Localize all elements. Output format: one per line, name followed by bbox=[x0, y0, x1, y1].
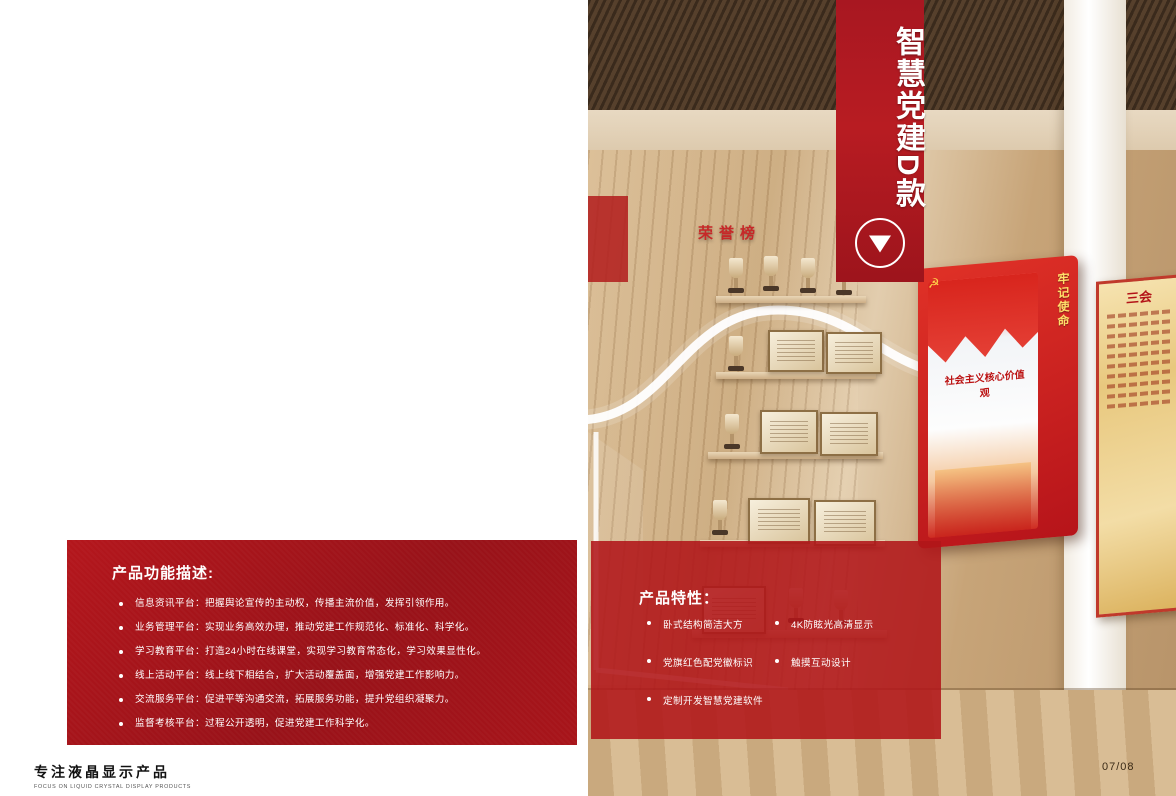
list-item: 触摸互动设计 bbox=[771, 655, 931, 669]
list-item: 学习教育平台：打造24小时在线课堂，实现学习教育常态化，学习效果显性化。 bbox=[113, 640, 559, 664]
award-plaque bbox=[760, 410, 818, 454]
list-item: 卧式结构简洁大方 bbox=[643, 617, 771, 631]
list-item: 定制开发智慧党建软件 bbox=[643, 693, 771, 707]
trophy bbox=[712, 500, 728, 535]
trophy bbox=[800, 258, 816, 293]
footer-brand-cn: 专注液晶显示产品 bbox=[34, 762, 191, 782]
list-item: 交流服务平台：促进平等沟通交流，拓展服务功能，提升党组织凝聚力。 bbox=[113, 688, 559, 712]
board-text-line bbox=[1107, 339, 1171, 349]
board-text-line bbox=[1107, 309, 1171, 319]
display-screen: 社会主义核心价值观 bbox=[928, 273, 1038, 539]
award-plaque bbox=[820, 412, 878, 456]
feature-list: 卧式结构简洁大方 4K防眩光高清显示 党旗红色配党徽标识 触摸互动设计 定制开发… bbox=[643, 617, 931, 707]
list-item bbox=[771, 693, 931, 707]
board-text-line bbox=[1107, 369, 1171, 379]
function-list: 信息资讯平台：把握舆论宣传的主动权，传播主流价值，发挥引领作用。 业务管理平台：… bbox=[113, 592, 559, 736]
page-number: 07/08 bbox=[1102, 761, 1135, 773]
display-side-text: 牢记使命 bbox=[1044, 272, 1070, 330]
board-text-line bbox=[1107, 389, 1171, 399]
feature-panel-title: 产品特性： bbox=[639, 587, 719, 608]
poster-title: 社会主义核心价值观 bbox=[944, 366, 1025, 385]
footer-brand: 专注液晶显示产品 FOCUS ON LIQUID CRYSTAL DISPLAY… bbox=[34, 762, 191, 790]
board-text-line bbox=[1107, 319, 1171, 329]
right-board-title: 三会 bbox=[1099, 284, 1176, 310]
red-wall-sign bbox=[588, 196, 628, 282]
function-panel-title: 产品功能描述: bbox=[112, 562, 214, 583]
circle-down-arrow-icon bbox=[855, 218, 905, 268]
board-text-line bbox=[1107, 359, 1171, 369]
installed-display-unit: 社会主义核心价值观 ☭ 牢记使命 bbox=[918, 255, 1078, 549]
function-description-panel: 产品功能描述: 信息资讯平台：把握舆论宣传的主动权，传播主流价值，发挥引领作用。… bbox=[67, 540, 577, 745]
list-item: 信息资讯平台：把握舆论宣传的主动权，传播主流价值，发挥引领作用。 bbox=[113, 592, 559, 616]
board-text-line bbox=[1107, 399, 1171, 409]
trophy bbox=[728, 336, 744, 371]
party-emblem-icon: ☭ bbox=[928, 275, 943, 291]
brochure-page: 荣誉榜 社会主义核心价值观 bbox=[0, 0, 1176, 796]
poster-tiananmen-graphic bbox=[935, 463, 1032, 538]
award-plaque bbox=[768, 330, 824, 372]
product-feature-panel: 产品特性： 卧式结构简洁大方 4K防眩光高清显示 党旗红色配党徽标识 触摸互动设… bbox=[591, 541, 941, 739]
list-item: 线上活动平台：线上线下相结合，扩大活动覆盖面，增强党建工作影响力。 bbox=[113, 664, 559, 688]
list-item: 业务管理平台：实现业务高效办理，推动党建工作规范化、标准化、科学化。 bbox=[113, 616, 559, 640]
award-plaque bbox=[826, 332, 882, 374]
section-banner: 智慧党建D款 bbox=[836, 0, 924, 282]
trophy-shelf bbox=[716, 296, 866, 303]
trophy bbox=[724, 414, 740, 449]
banner-title: 智慧党建D款 bbox=[836, 18, 924, 218]
honor-wall-text: 荣誉榜 bbox=[698, 222, 761, 243]
right-info-board: 三会 bbox=[1096, 274, 1176, 618]
trophy bbox=[763, 256, 779, 291]
footer-brand-en: FOCUS ON LIQUID CRYSTAL DISPLAY PRODUCTS bbox=[34, 784, 191, 790]
trophy bbox=[728, 258, 744, 293]
list-item: 4K防眩光高清显示 bbox=[771, 617, 931, 631]
board-text-line bbox=[1107, 329, 1171, 339]
award-plaque bbox=[814, 500, 876, 546]
list-item: 监督考核平台：过程公开透明，促进党建工作科学化。 bbox=[113, 712, 559, 736]
list-item: 党旗红色配党徽标识 bbox=[643, 655, 771, 669]
board-text-line bbox=[1107, 379, 1171, 389]
award-plaque bbox=[748, 498, 810, 544]
board-text-line bbox=[1107, 349, 1171, 359]
